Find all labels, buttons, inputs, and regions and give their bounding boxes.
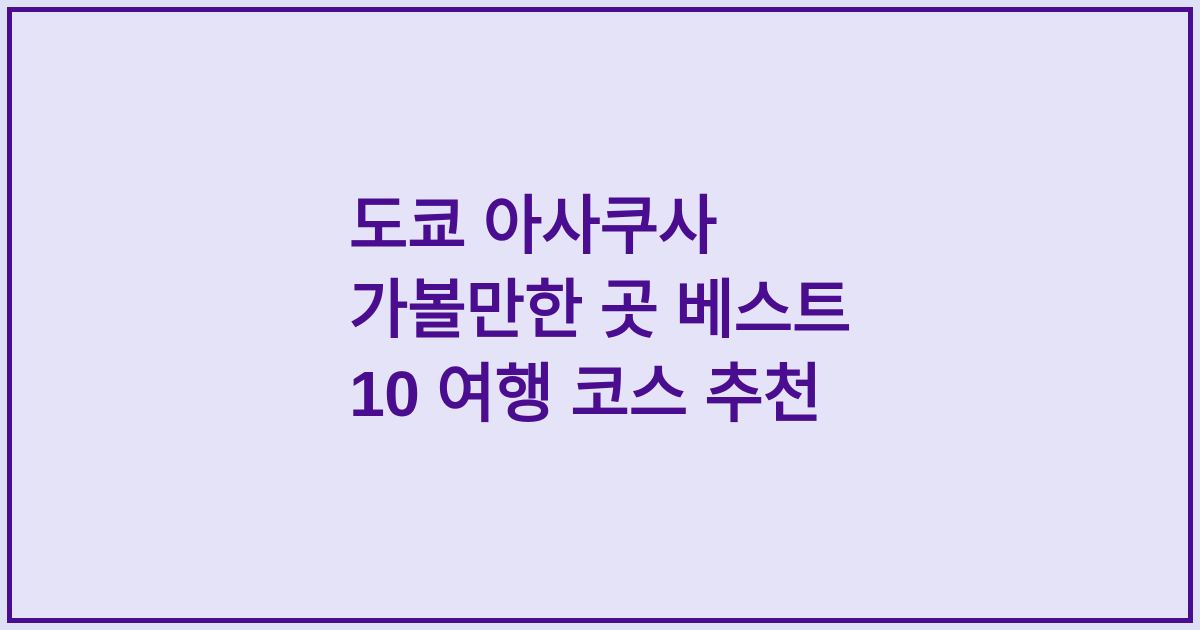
title-line-1: 도쿄 아사쿠사 <box>349 184 851 268</box>
title-line-2: 가볼만한 곳 베스트 <box>349 268 851 352</box>
page-title: 도쿄 아사쿠사 가볼만한 곳 베스트 10 여행 코스 추천 <box>325 184 875 436</box>
thumbnail-canvas: 도쿄 아사쿠사 가볼만한 곳 베스트 10 여행 코스 추천 <box>0 0 1200 630</box>
title-line-3: 10 여행 코스 추천 <box>349 352 851 436</box>
framed-card: 도쿄 아사쿠사 가볼만한 곳 베스트 10 여행 코스 추천 <box>7 7 1193 623</box>
